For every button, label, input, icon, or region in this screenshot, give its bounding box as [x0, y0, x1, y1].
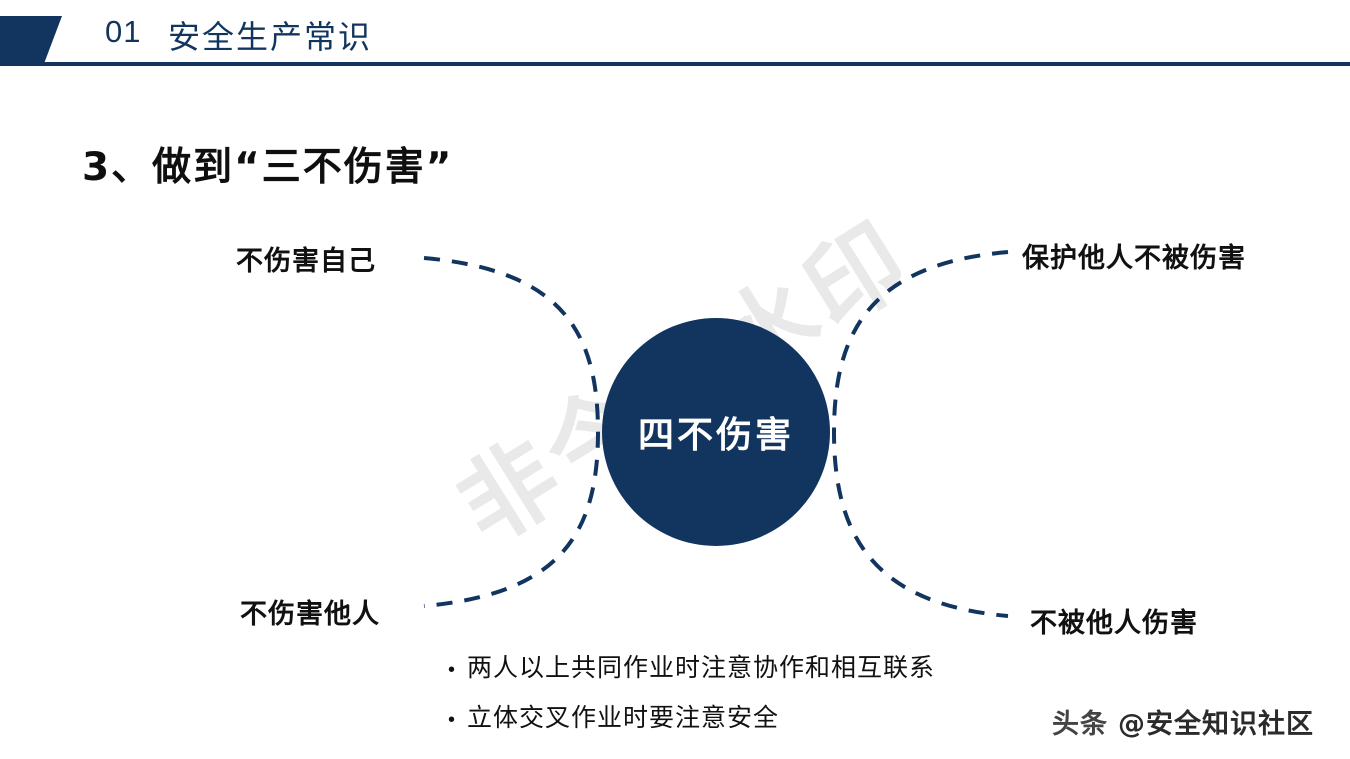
diagram-node-bottom-right: 不被他人伤害 [1030, 601, 1198, 640]
bullet-list: • 两人以上共同作业时注意协作和相互联系 • 立体交叉作业时要注意安全 [448, 648, 935, 748]
center-node-label: 四不伤害 [638, 406, 794, 458]
bullet-icon: • [448, 710, 455, 730]
header-badge-shape [0, 16, 62, 62]
list-item: • 立体交叉作业时要注意安全 [448, 698, 935, 734]
page-title: 3、做到“三不伤害” [82, 136, 453, 192]
slide-header: 01 安全生产常识 [0, 0, 1350, 72]
diagram-node-top-right: 保护他人不被伤害 [1022, 236, 1246, 275]
header-divider [0, 62, 1350, 66]
header-section-number: 01 [105, 14, 141, 50]
brand-account-name: @安全知识社区 [1118, 702, 1314, 741]
brand-mark-label: 头条 [1052, 702, 1108, 741]
brand-watermark: 头条 @安全知识社区 [1052, 702, 1314, 741]
bullet-icon: • [448, 660, 455, 680]
list-item-text: 立体交叉作业时要注意安全 [467, 698, 779, 734]
list-item: • 两人以上共同作业时注意协作和相互联系 [448, 648, 935, 684]
diagram-node-top-left: 不伤害自己 [236, 239, 376, 278]
center-node: 四不伤害 [602, 318, 830, 546]
list-item-text: 两人以上共同作业时注意协作和相互联系 [467, 648, 935, 684]
diagram-node-bottom-left: 不伤害他人 [240, 592, 380, 631]
header-section-title: 安全生产常识 [168, 12, 372, 58]
